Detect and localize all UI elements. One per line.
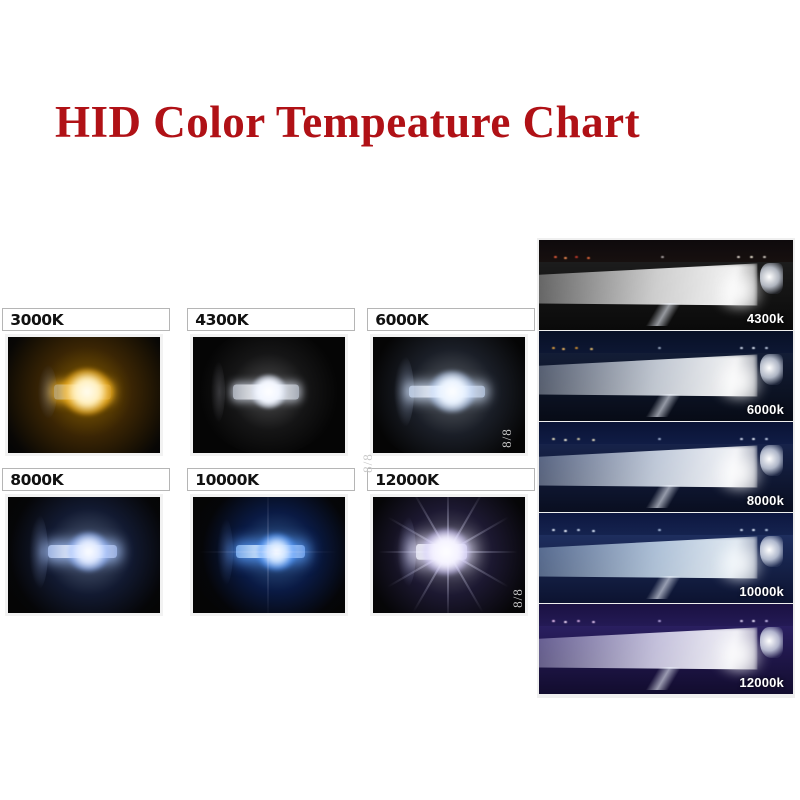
headlamp <box>760 627 783 658</box>
bulb-label-box-10000k: 10000K <box>187 468 355 491</box>
bulb-cell-8000k[interactable]: 8000K <box>2 468 170 620</box>
city-lights <box>539 613 793 626</box>
road-marking <box>606 485 720 508</box>
bulb-photo-8000k <box>8 497 160 613</box>
bulb-photo-12000k <box>373 497 525 613</box>
bulb-label-box-8000k: 8000K <box>2 468 170 491</box>
beam-label-4300k: 4300k <box>747 311 784 326</box>
beam-label-12000k: 12000k <box>739 675 784 690</box>
watermark-3: 8/8 <box>510 588 526 608</box>
beam-panel-4300k[interactable]: 4300k <box>539 240 793 330</box>
bulb-base <box>211 361 225 421</box>
bulb-label-4300k: 4300K <box>188 311 248 329</box>
bulb-label-box-12000k: 12000K <box>367 468 535 491</box>
bulb-label-12000k: 12000K <box>368 471 439 489</box>
bulb-photo-4300k <box>193 337 345 453</box>
bulb-base <box>397 516 415 588</box>
bulb-core <box>251 374 287 409</box>
road-marking <box>606 394 720 417</box>
beam-label-6000k: 6000k <box>747 402 784 417</box>
beam-panel-6000k[interactable]: 6000k <box>539 331 793 421</box>
bulb-label-10000k: 10000K <box>188 471 259 489</box>
headlamp <box>760 354 783 385</box>
city-lights <box>539 522 793 535</box>
bulb-photo-frame-8000k <box>5 494 163 616</box>
city-lights <box>539 340 793 353</box>
headlamp <box>760 263 783 294</box>
bulb-core <box>61 368 113 414</box>
beam-label-10000k: 10000k <box>739 584 784 599</box>
bulb-photo-frame-3000k <box>5 334 163 456</box>
road-marking <box>606 303 720 326</box>
bulb-photo-3000k <box>8 337 160 453</box>
city-lights <box>539 249 793 262</box>
bulb-cell-10000k[interactable]: 10000K <box>187 468 355 620</box>
bulb-photo-frame-4300k <box>190 334 348 456</box>
bulb-comparison-grid: 3000K 4300K 6000K <box>2 308 532 633</box>
beam-panel-10000k[interactable]: 10000k <box>539 513 793 603</box>
city-lights <box>539 431 793 444</box>
bulb-photo-10000k <box>193 497 345 613</box>
headlamp <box>760 536 783 567</box>
bulb-photo-frame-10000k <box>190 494 348 616</box>
road-marking <box>606 576 720 599</box>
bulb-core <box>423 528 469 574</box>
beam-panel-8000k[interactable]: 8000k <box>539 422 793 512</box>
bulb-photo-frame-12000k <box>370 494 528 616</box>
bulb-cell-3000k[interactable]: 3000K <box>2 308 170 460</box>
watermark-1: 8/8 <box>499 428 515 448</box>
watermark-2: 8/8 <box>360 453 376 473</box>
bulb-label-3000k: 3000K <box>3 311 63 329</box>
beam-label-8000k: 8000k <box>747 493 784 508</box>
bulb-rays <box>193 497 345 613</box>
bulb-label-box-4300k: 4300K <box>187 308 355 331</box>
bulb-label-8000k: 8000K <box>3 471 63 489</box>
bulb-label-box-3000k: 3000K <box>2 308 170 331</box>
bulb-label-6000k: 6000K <box>368 311 428 329</box>
bulb-core <box>67 532 110 571</box>
page-title: HID Color Tempeature Chart <box>55 96 640 148</box>
bulb-cell-4300k[interactable]: 4300K <box>187 308 355 460</box>
headlamp <box>760 445 783 476</box>
bulb-core <box>429 371 475 413</box>
road-marking <box>606 667 720 690</box>
beam-comparison-column: 4300k 6000k <box>537 238 795 698</box>
bulb-label-box-6000k: 6000K <box>367 308 535 331</box>
beam-panel-12000k[interactable]: 12000k <box>539 604 793 694</box>
